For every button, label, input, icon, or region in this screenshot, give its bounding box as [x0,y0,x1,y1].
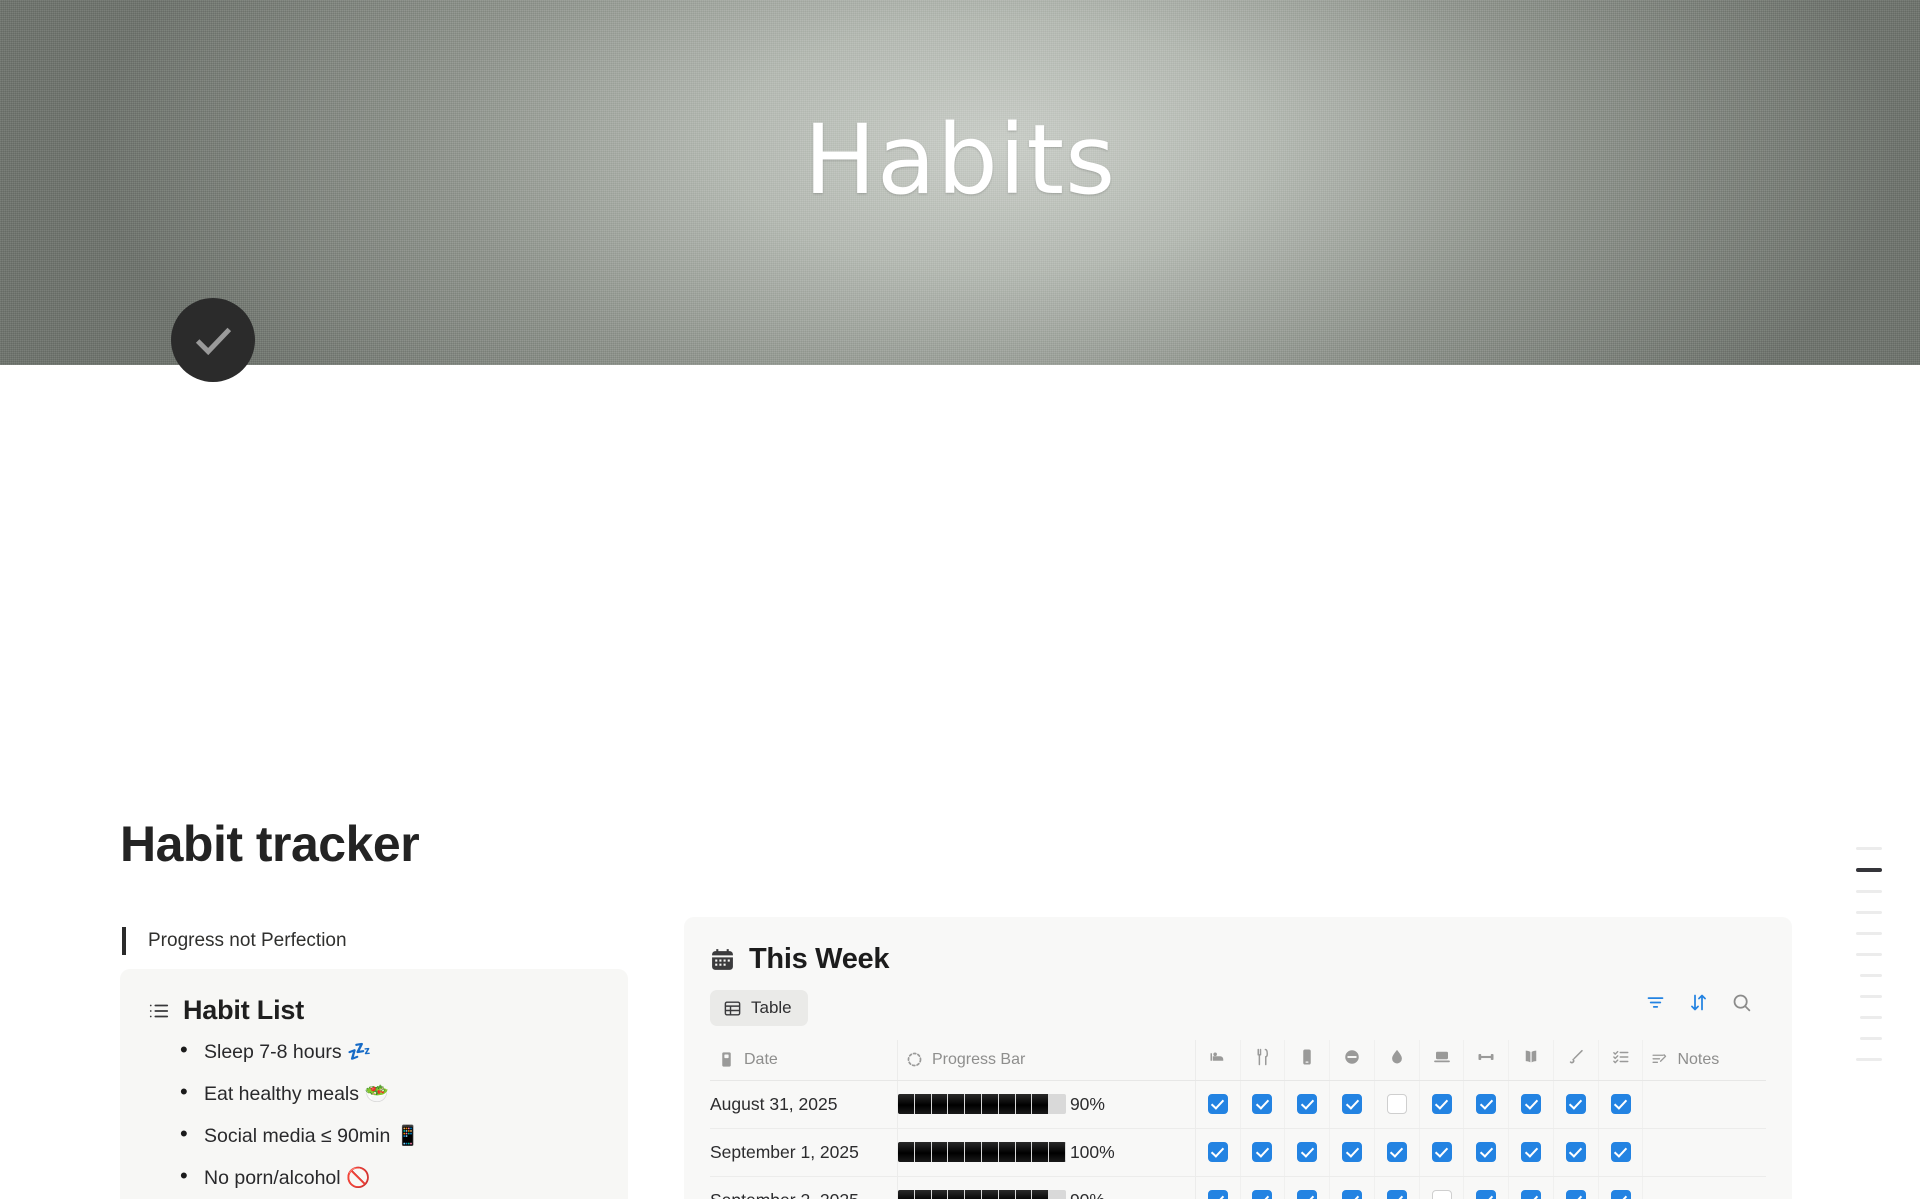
cell-habit-phone[interactable] [1285,1176,1330,1199]
ban-icon [1343,1053,1361,1070]
checkbox-checked[interactable] [1476,1142,1496,1162]
checkbox-checked[interactable] [1432,1142,1452,1162]
outline-line[interactable] [1856,932,1882,935]
cell-habit-checklist[interactable] [1598,1080,1643,1128]
this-week-header: This Week [710,943,1766,976]
this-week-card: This Week Table [684,917,1792,1199]
column-header-water[interactable] [1374,1040,1419,1080]
checkbox-checked[interactable] [1521,1190,1541,1199]
cell-habit-ban[interactable] [1330,1176,1375,1199]
table-header-row: Date Progress Bar [710,1040,1766,1080]
cell-progress: 100% [897,1128,1195,1176]
progress-bar [898,1190,1066,1199]
checkbox-checked[interactable] [1432,1094,1452,1114]
bullet-list-icon [148,1000,170,1022]
checkbox-checked[interactable] [1521,1142,1541,1162]
cell-habit-droplet[interactable] [1374,1176,1419,1199]
cell-habit-book-open[interactable] [1509,1176,1554,1199]
cell-habit-book-open[interactable] [1509,1080,1554,1128]
checkbox-checked[interactable] [1521,1094,1541,1114]
this-week-title: This Week [749,943,889,976]
column-header-read[interactable] [1509,1040,1554,1080]
cell-habit-laptop[interactable] [1419,1176,1464,1199]
cell-habit-droplet[interactable] [1374,1128,1419,1176]
cell-progress: 90% [897,1176,1195,1199]
checkbox-checked[interactable] [1252,1142,1272,1162]
table-icon [723,999,742,1018]
cell-habit-fork-knife[interactable] [1240,1176,1285,1199]
habit-emoji: 💤 [347,1040,371,1063]
tab-table-view[interactable]: Table [710,990,808,1026]
calendar-date-icon [718,1051,735,1068]
cell-habit-brush[interactable] [1553,1080,1598,1128]
checkbox-unchecked[interactable] [1432,1190,1452,1199]
habit-items-list: Sleep 7-8 hours 💤 Eat healthy meals 🥗 So… [178,1040,604,1199]
checkbox-checked[interactable] [1611,1142,1631,1162]
cell-notes[interactable] [1643,1080,1766,1128]
checkbox-checked[interactable] [1297,1190,1317,1199]
checkbox-checked[interactable] [1476,1190,1496,1199]
progress-ring-icon [906,1051,923,1068]
cell-habit-droplet[interactable] [1374,1080,1419,1128]
outline-line[interactable] [1856,847,1882,850]
droplet-icon [1388,1053,1406,1070]
checkbox-checked[interactable] [1252,1094,1272,1114]
checkbox-checked[interactable] [1297,1094,1317,1114]
tab-table-label: Table [751,998,792,1018]
column-header-notes[interactable]: Notes [1643,1040,1766,1080]
cell-habit-checklist[interactable] [1598,1128,1643,1176]
notes-edit-icon [1651,1051,1668,1068]
outline-line[interactable] [1860,1037,1882,1040]
cell-habit-dumbbell[interactable] [1464,1176,1509,1199]
view-toolbar: Table [710,990,1766,1026]
habit-emoji: 🚫 [346,1166,370,1189]
column-header-meals[interactable] [1240,1040,1285,1080]
table-row[interactable]: September 1, 2025100% [710,1128,1766,1176]
list-item[interactable]: Eat healthy meals 🥗 [178,1082,604,1106]
quote-block: Progress not Perfection [122,927,347,955]
cell-habit-ban[interactable] [1330,1128,1375,1176]
progress-bar [898,1094,1066,1114]
habit-label: Eat healthy meals [204,1083,359,1105]
checkbox-checked[interactable] [1611,1094,1631,1114]
cell-habit-brush[interactable] [1553,1128,1598,1176]
column-header-study[interactable] [1419,1040,1464,1080]
phone-icon [1298,1053,1316,1070]
cell-habit-laptop[interactable] [1419,1128,1464,1176]
page-title: Habit tracker [120,815,419,873]
habit-label: Sleep 7-8 hours [204,1041,342,1063]
list-item[interactable]: Social media ≤ 90min 📱 [178,1124,604,1148]
cover-banner: Habits [0,0,1920,365]
cell-habit-fork-knife[interactable] [1240,1128,1285,1176]
column-label: Notes [1677,1051,1719,1069]
checkbox-checked[interactable] [1252,1190,1272,1199]
checkbox-unchecked[interactable] [1387,1094,1407,1114]
search-icon[interactable] [1731,992,1752,1013]
outline-line[interactable] [1856,911,1882,914]
checkbox-checked[interactable] [1566,1094,1586,1114]
column-label: Progress Bar [932,1051,1025,1069]
column-header-social-media[interactable] [1285,1040,1330,1080]
outline-line[interactable] [1856,890,1882,893]
outline-line[interactable] [1860,974,1882,977]
checkbox-checked[interactable] [1611,1190,1631,1199]
column-label: Date [744,1051,778,1069]
sort-icon[interactable] [1688,992,1709,1013]
checkbox-checked[interactable] [1208,1142,1228,1162]
progress-bar [898,1142,1066,1162]
cell-habit-bed[interactable] [1195,1176,1240,1199]
progress-percent: 90% [1070,1094,1105,1115]
book-open-icon [1522,1053,1540,1070]
checkbox-checked[interactable] [1476,1094,1496,1114]
progress-percent: 90% [1070,1190,1105,1199]
table-row[interactable]: September 2, 202590% [710,1176,1766,1199]
column-header-plan-tasks[interactable] [1598,1040,1643,1080]
habit-list-title: Habit List [183,995,304,1026]
cell-date[interactable]: August 31, 2025 [710,1080,897,1128]
column-header-journal[interactable] [1553,1040,1598,1080]
checkbox-checked[interactable] [1566,1142,1586,1162]
cover-title: Habits [0,104,1920,216]
fork-knife-icon [1253,1053,1271,1070]
list-item[interactable]: No porn/alcohol 🚫 [178,1166,604,1190]
progress-percent: 100% [1070,1142,1115,1163]
checkbox-checked[interactable] [1387,1142,1407,1162]
checkbox-checked[interactable] [1342,1094,1362,1114]
cell-date[interactable]: September 1, 2025 [710,1128,897,1176]
cell-habit-bed[interactable] [1195,1128,1240,1176]
table-body: August 31, 202590%September 1, 2025100%S… [710,1080,1766,1199]
checkbox-checked[interactable] [1342,1142,1362,1162]
brush-icon [1567,1053,1585,1070]
database-tools [1645,992,1752,1013]
cell-habit-dumbbell[interactable] [1464,1128,1509,1176]
cell-habit-bed[interactable] [1195,1080,1240,1128]
calendar-icon [710,947,735,972]
habits-table: Date Progress Bar [710,1040,1766,1199]
checklist-icon [1612,1053,1630,1070]
cell-habit-book-open[interactable] [1509,1128,1554,1176]
habit-emoji: 🥗 [364,1082,388,1105]
checkbox-checked[interactable] [1208,1190,1228,1199]
outline-line[interactable] [1860,995,1882,998]
checkbox-checked[interactable] [1208,1094,1228,1114]
cell-habit-ban[interactable] [1330,1080,1375,1128]
cell-habit-phone[interactable] [1285,1128,1330,1176]
cell-notes[interactable] [1643,1128,1766,1176]
cell-progress: 90% [897,1080,1195,1128]
cell-date[interactable]: September 2, 2025 [710,1176,897,1199]
checkbox-checked[interactable] [1342,1190,1362,1199]
cell-habit-brush[interactable] [1553,1176,1598,1199]
list-item[interactable]: Sleep 7-8 hours 💤 [178,1040,604,1064]
habit-label: No porn/alcohol [204,1167,341,1189]
cell-habit-dumbbell[interactable] [1464,1080,1509,1128]
filter-icon[interactable] [1645,992,1666,1013]
cell-notes[interactable] [1643,1176,1766,1199]
checkbox-checked[interactable] [1297,1142,1317,1162]
dumbbell-icon [1477,1053,1495,1070]
cell-habit-checklist[interactable] [1598,1176,1643,1199]
checkbox-checked[interactable] [1387,1190,1407,1199]
outline-rail[interactable] [1856,847,1902,1079]
column-header-sleep[interactable] [1195,1040,1240,1080]
column-header-progress[interactable]: Progress Bar [897,1040,1195,1080]
habit-list-card: Habit List Sleep 7-8 hours 💤 Eat healthy… [120,969,628,1199]
cell-habit-laptop[interactable] [1419,1080,1464,1128]
outline-line[interactable] [1860,1016,1882,1019]
habit-list-header: Habit List [148,995,604,1026]
column-header-no-porn-alcohol[interactable] [1330,1040,1375,1080]
habit-label: Social media ≤ 90min [204,1125,390,1147]
column-header-exercise[interactable] [1464,1040,1509,1080]
cell-habit-fork-knife[interactable] [1240,1080,1285,1128]
check-circle-icon[interactable] [171,298,255,382]
habit-emoji: 📱 [396,1124,420,1147]
cell-habit-phone[interactable] [1285,1080,1330,1128]
outline-line[interactable] [1856,1058,1882,1061]
column-header-date[interactable]: Date [710,1040,897,1080]
outline-line[interactable] [1856,953,1882,956]
laptop-icon [1433,1053,1451,1070]
table-row[interactable]: August 31, 202590% [710,1080,1766,1128]
checkbox-checked[interactable] [1566,1190,1586,1199]
bed-icon [1209,1053,1227,1070]
outline-line[interactable] [1856,868,1882,872]
